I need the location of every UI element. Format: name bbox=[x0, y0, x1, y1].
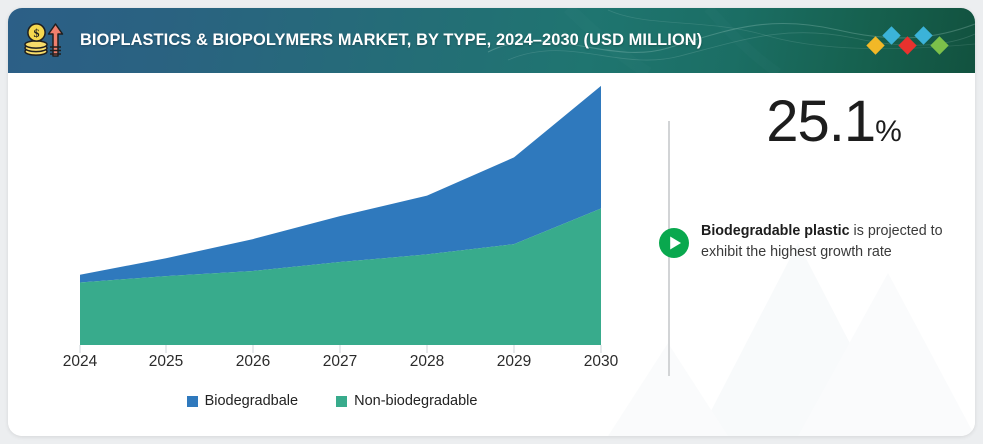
x-axis-tick: 2026 bbox=[236, 353, 270, 371]
chart-area: 2024 2025 2026 2027 2028 2029 2030 Biode… bbox=[8, 73, 656, 436]
diamond-logo bbox=[865, 24, 953, 58]
legend-label: Biodegradbale bbox=[205, 393, 299, 409]
x-axis-tick: 2028 bbox=[410, 353, 444, 371]
stat-description-highlight: Biodegradable plastic bbox=[701, 223, 850, 239]
legend-item-biodegradable[interactable]: Biodegradbale bbox=[187, 393, 299, 409]
stacked-area-chart bbox=[8, 73, 656, 363]
legend-item-non-biodegradable[interactable]: Non-biodegradable bbox=[336, 393, 477, 409]
stat-value: 25.1% bbox=[701, 93, 967, 151]
x-axis-tick: 2030 bbox=[584, 353, 618, 371]
header-bar: $ BIOPLASTICS & BIOPOLYMERS MARKET, BY T… bbox=[8, 8, 975, 73]
svg-text:$: $ bbox=[34, 26, 40, 40]
x-axis-tick: 2025 bbox=[149, 353, 183, 371]
x-axis-labels: 2024 2025 2026 2027 2028 2029 2030 bbox=[8, 353, 656, 379]
legend-swatch-icon bbox=[187, 396, 198, 407]
legend-swatch-icon bbox=[336, 396, 347, 407]
x-axis-tick: 2024 bbox=[63, 353, 97, 371]
chart-legend: Biodegradbale Non-biodegradable bbox=[8, 393, 656, 409]
play-circle-icon[interactable] bbox=[656, 225, 692, 261]
x-axis-tick: 2027 bbox=[323, 353, 357, 371]
body-area: 2024 2025 2026 2027 2028 2029 2030 Biode… bbox=[8, 73, 975, 436]
stat-unit: % bbox=[875, 115, 902, 148]
highlight-panel: 25.1% Biodegradable plastic is projected… bbox=[656, 73, 975, 436]
infographic-root: $ BIOPLASTICS & BIOPOLYMERS MARKET, BY T… bbox=[0, 0, 983, 444]
chart-axis-ticks bbox=[80, 345, 601, 353]
header-title: BIOPLASTICS & BIOPOLYMERS MARKET, BY TYP… bbox=[80, 8, 702, 73]
stat-description: Biodegradable plastic is projected to ex… bbox=[701, 221, 973, 264]
legend-label: Non-biodegradable bbox=[354, 393, 477, 409]
stat-number: 25.1 bbox=[766, 89, 875, 154]
money-growth-icon: $ bbox=[22, 20, 66, 62]
x-axis-tick: 2029 bbox=[497, 353, 531, 371]
